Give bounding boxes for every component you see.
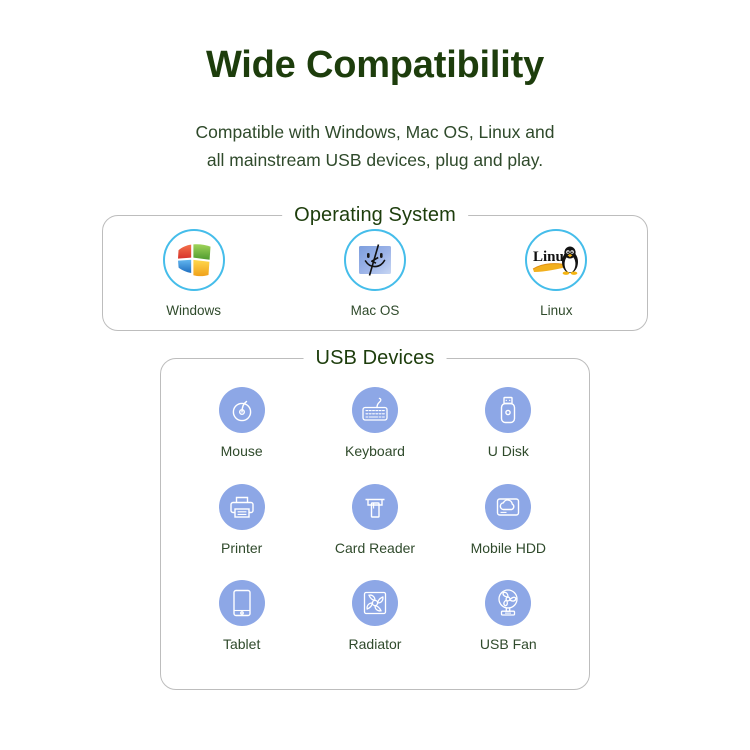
usb-label-u-disk: U Disk: [488, 443, 529, 459]
usb-devices-panel: USB Devices Mouse: [160, 358, 590, 690]
usb-label-printer: Printer: [221, 540, 262, 556]
usb-label-usb-fan: USB Fan: [480, 636, 537, 652]
page-title: Wide Compatibility: [0, 44, 750, 87]
usb-fan-icon: [494, 588, 522, 618]
tablet-icon: [230, 588, 254, 618]
os-item-windows[interactable]: Windows: [119, 229, 269, 318]
usb-icon-circle-radiator: [352, 580, 398, 626]
os-item-linux[interactable]: Linux: [481, 229, 631, 318]
usb-item-u-disk[interactable]: U Disk: [442, 387, 575, 484]
linux-tux-logo-icon: Linux: [531, 243, 581, 277]
usb-icon-circle-card-reader: [352, 484, 398, 530]
subtitle-line-1: Compatible with Windows, Mac OS, Linux a…: [196, 122, 555, 142]
usb-label-radiator: Radiator: [349, 636, 402, 652]
usb-icon-circle-keyboard: [352, 387, 398, 433]
mouse-icon: [228, 396, 256, 424]
usb-item-radiator[interactable]: Radiator: [308, 580, 441, 677]
card-reader-icon: [361, 493, 389, 521]
os-icon-circle-windows: [163, 229, 225, 291]
windows-logo-icon: [175, 243, 213, 277]
external-hard-drive-icon: [494, 493, 522, 521]
usb-icon-circle-printer: [219, 484, 265, 530]
usb-label-tablet: Tablet: [223, 636, 260, 652]
os-label-linux: Linux: [540, 303, 572, 318]
keyboard-icon: [360, 396, 390, 424]
operating-system-panel: Operating System: [102, 215, 648, 331]
os-label-macos: Mac OS: [351, 303, 400, 318]
usb-icon-circle-u-disk: [485, 387, 531, 433]
usb-icon-circle-usb-fan: [485, 580, 531, 626]
mac-finder-face-icon: [356, 243, 394, 277]
usb-item-printer[interactable]: Printer: [175, 484, 308, 581]
compatibility-infographic: Wide Compatibility Compatible with Windo…: [0, 0, 750, 750]
os-label-windows: Windows: [166, 303, 221, 318]
usb-label-mouse: Mouse: [221, 443, 263, 459]
usb-icon-circle-mobile-hdd: [485, 484, 531, 530]
usb-label-card-reader: Card Reader: [335, 540, 415, 556]
usb-item-usb-fan[interactable]: USB Fan: [442, 580, 575, 677]
usb-icon-circle-tablet: [219, 580, 265, 626]
operating-system-list: Windows: [103, 216, 647, 330]
page-subtitle: Compatible with Windows, Mac OS, Linux a…: [0, 118, 750, 174]
printer-icon: [228, 493, 256, 521]
usb-label-keyboard: Keyboard: [345, 443, 405, 459]
os-item-macos[interactable]: Mac OS: [300, 229, 450, 318]
usb-item-mouse[interactable]: Mouse: [175, 387, 308, 484]
usb-item-mobile-hdd[interactable]: Mobile HDD: [442, 484, 575, 581]
radiator-fan-icon: [361, 589, 389, 617]
os-icon-circle-linux: Linux: [525, 229, 587, 291]
usb-icon-circle-mouse: [219, 387, 265, 433]
subtitle-line-2: all mainstream USB devices, plug and pla…: [0, 146, 750, 174]
usb-item-tablet[interactable]: Tablet: [175, 580, 308, 677]
usb-devices-grid: Mouse: [161, 359, 589, 689]
usb-label-mobile-hdd: Mobile HDD: [471, 540, 546, 556]
usb-item-keyboard[interactable]: Keyboard: [308, 387, 441, 484]
usb-item-card-reader[interactable]: Card Reader: [308, 484, 441, 581]
os-icon-circle-macos: [344, 229, 406, 291]
usb-flash-drive-icon: [495, 395, 521, 425]
